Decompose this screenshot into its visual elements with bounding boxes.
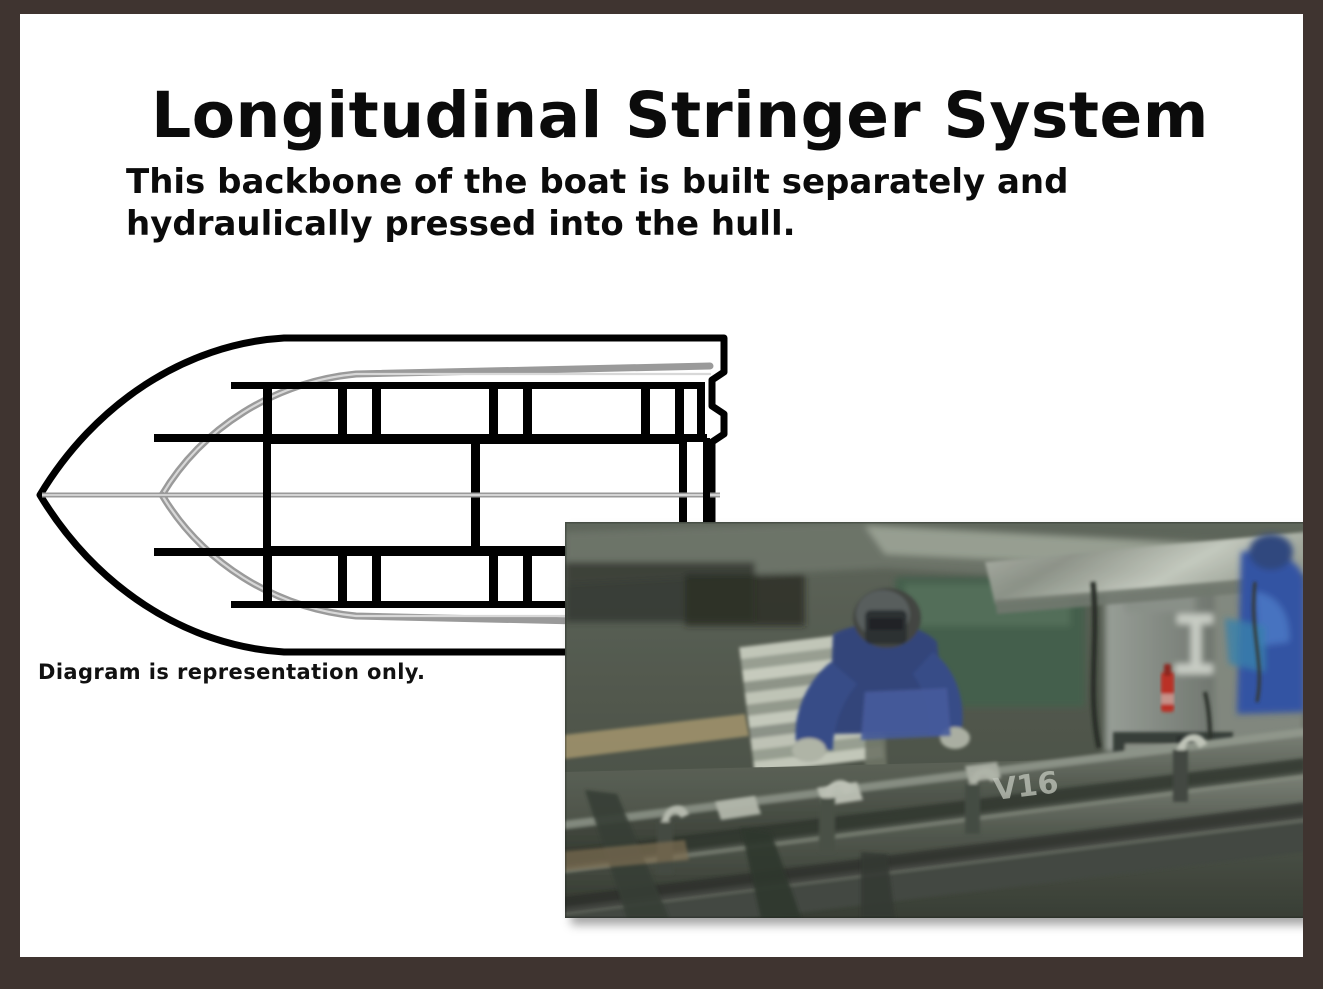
stringer-longitudinal-outer-upper — [231, 382, 703, 389]
cross-rib-upper-1 — [263, 386, 272, 442]
stringer-transom-closure-upper — [697, 382, 705, 442]
page-title: Longitudinal Stringer System — [120, 84, 1240, 148]
factory-photo-svg: V16 — [565, 522, 1303, 918]
slide-canvas: Longitudinal Stringer System This backbo… — [20, 14, 1303, 957]
photo-haze — [565, 522, 1303, 918]
cross-rib-upper-2 — [338, 386, 347, 442]
cross-rib-lower-5 — [523, 548, 532, 604]
cross-rib-lower-4 — [489, 548, 498, 604]
cross-rib-lower-2 — [338, 548, 347, 604]
stringer-center-bay-end-wall — [263, 438, 271, 552]
diagram-caption: Diagram is representation only. — [38, 660, 425, 684]
title-block: Longitudinal Stringer System This backbo… — [120, 84, 1240, 245]
cross-rib-upper-7 — [675, 386, 684, 442]
slide-frame: Longitudinal Stringer System This backbo… — [0, 0, 1323, 989]
cross-rib-upper-4 — [489, 386, 498, 442]
factory-photo: V16 — [565, 522, 1303, 918]
cross-rib-upper-5 — [523, 386, 532, 442]
page-subtitle: This backbone of the boat is built separ… — [120, 162, 1240, 245]
cross-rib-lower-3 — [372, 548, 381, 604]
cross-rib-upper-3 — [372, 386, 381, 442]
cross-rib-lower-1 — [263, 548, 272, 604]
cross-rib-upper-6 — [641, 386, 650, 442]
